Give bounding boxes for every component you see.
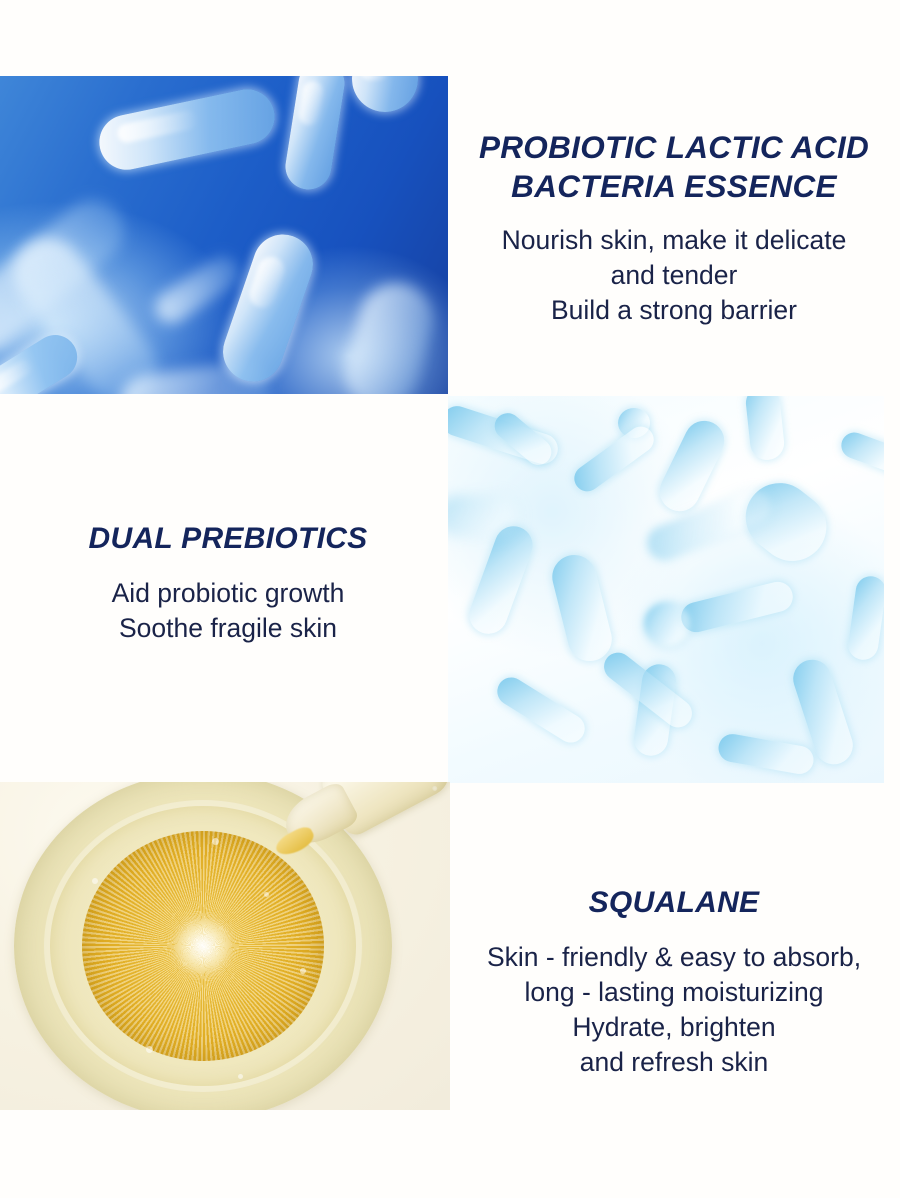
prebiotics-body-line-2: Soothe fragile skin	[10, 611, 446, 646]
bacteria-light-image	[448, 396, 884, 783]
probiotic-body: Nourish skin, make it delicate and tende…	[448, 223, 900, 328]
probiotic-body-line-3: Build a strong barrier	[448, 293, 900, 328]
oil-speck	[300, 968, 306, 974]
squalane-body-line-1: Skin - friendly & easy to absorb,	[448, 940, 900, 975]
bacteria-rod	[215, 226, 321, 389]
bacteria-rod	[94, 84, 280, 175]
bacteria-rod-blur	[336, 274, 442, 394]
bacteria-rod-blur	[149, 250, 245, 329]
bacteria-rod	[678, 579, 796, 636]
probiotic-essence-text-block: PROBIOTIC LACTIC ACID BACTERIA ESSENCE N…	[448, 128, 900, 328]
squalane-text-block: SQUALANE Skin - friendly & easy to absor…	[448, 884, 900, 1080]
oil-speck	[238, 1074, 243, 1079]
prebiotics-body-line-1: Aid probiotic growth	[10, 576, 446, 611]
bacteria-rod	[846, 574, 884, 661]
bacteria-dark-image	[0, 76, 448, 394]
probiotic-heading: PROBIOTIC LACTIC ACID BACTERIA ESSENCE	[448, 128, 900, 206]
probiotic-heading-line-2: BACTERIA ESSENCE	[448, 167, 900, 206]
squalane-oil-image	[0, 782, 450, 1110]
squalane-body-line-3: Hydrate, brighten	[448, 1010, 900, 1045]
prebiotics-heading: DUAL PREBIOTICS	[10, 520, 446, 557]
bacteria-rod	[569, 421, 659, 496]
probiotic-heading-line-1: PROBIOTIC LACTIC ACID	[448, 128, 900, 167]
prebiotics-body: Aid probiotic growth Soothe fragile skin	[10, 576, 446, 646]
bacteria-dot	[644, 602, 690, 646]
bacteria-rod	[352, 76, 418, 112]
squalane-heading: SQUALANE	[448, 884, 900, 921]
bacteria-rod	[716, 732, 815, 776]
bacteria-rod	[744, 396, 786, 462]
squalane-heading-line-1: SQUALANE	[448, 884, 900, 921]
probiotic-body-line-1: Nourish skin, make it delicate	[448, 223, 900, 258]
oil-speck	[92, 878, 98, 884]
bacteria-rod	[492, 672, 590, 748]
squalane-body-line-4: and refresh skin	[448, 1045, 900, 1080]
prebiotics-heading-line-1: DUAL PREBIOTICS	[10, 520, 446, 557]
oil-swirl	[82, 831, 324, 1061]
bacteria-rod	[464, 521, 538, 639]
oil-speck	[264, 892, 269, 897]
oil-speck	[146, 1046, 153, 1053]
bubble	[431, 785, 438, 792]
dual-prebiotics-text-block: DUAL PREBIOTICS Aid probiotic growth Soo…	[10, 520, 446, 646]
bacteria-rod	[838, 429, 884, 477]
bacteria-rod-blur	[448, 496, 518, 536]
oil-speck	[212, 838, 219, 845]
bacteria-rod	[548, 550, 617, 665]
bacteria-rod	[282, 76, 348, 193]
squalane-body: Skin - friendly & easy to absorb, long -…	[448, 940, 900, 1080]
squalane-body-line-2: long - lasting moisturizing	[448, 975, 900, 1010]
probiotic-body-line-2: and tender	[448, 258, 900, 293]
